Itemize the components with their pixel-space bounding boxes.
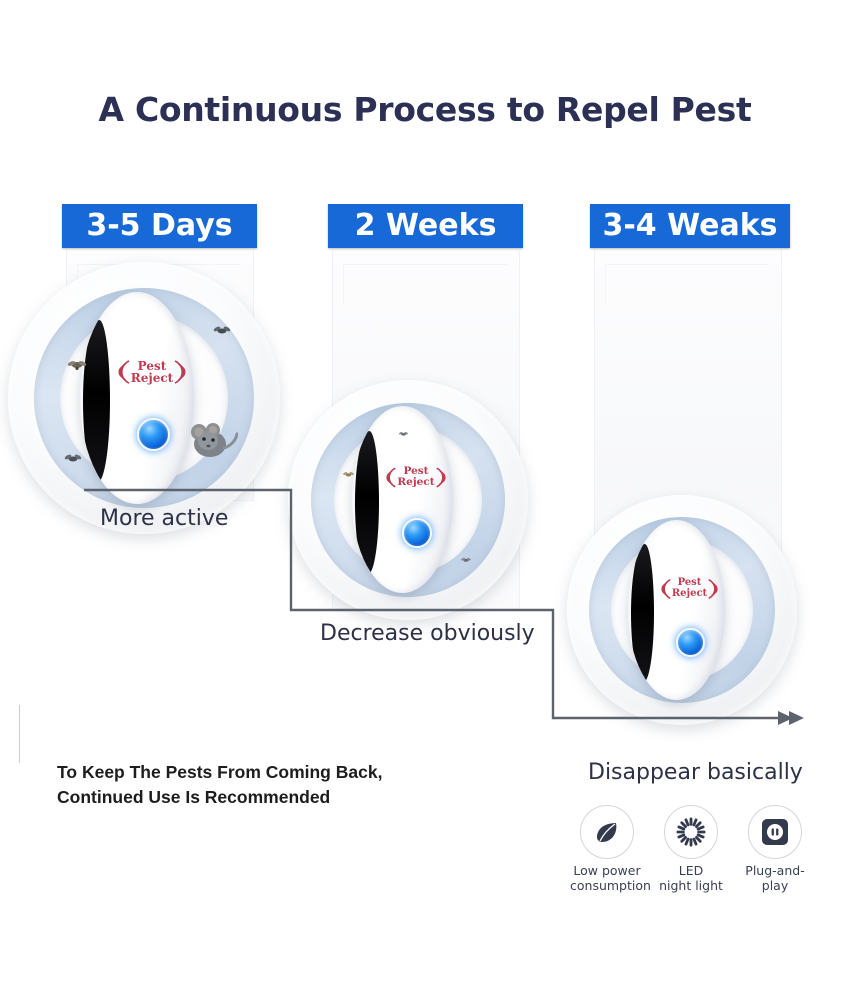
device-body: Pest Reject	[80, 292, 194, 504]
pest-fly	[342, 470, 355, 479]
device-logo-line2: Reject	[397, 477, 434, 488]
sound-wave-icon	[707, 577, 718, 601]
sound-wave-icon	[386, 465, 397, 490]
sound-wave-icon	[661, 577, 672, 601]
bottom-note-line-2: Continued Use Is Recommended	[57, 785, 382, 810]
feature-label: LED night light	[654, 864, 728, 894]
sound-wave-icon	[118, 358, 131, 386]
feature-icon-circle	[664, 805, 718, 859]
stage-1-caption: More active	[100, 506, 228, 531]
stage-3-badge: 3-4 Weaks	[590, 204, 790, 248]
stage-3-device: Pest Reject	[567, 495, 797, 725]
device-led-button	[402, 518, 432, 548]
feature-led-night-light: LED night light	[654, 805, 728, 894]
feature-plug-and-play: Plug-and-play	[738, 805, 812, 894]
pest-fly	[66, 358, 88, 371]
stage-1-badge: 3-5 Days	[62, 204, 257, 248]
device-logo-line2: Reject	[131, 372, 173, 384]
pest-fly	[398, 430, 409, 438]
device-logo: Pest Reject	[657, 573, 722, 604]
feature-label: Low power consumption	[570, 864, 644, 894]
device-logo: Pest Reject	[114, 354, 190, 390]
sunburst-icon	[676, 817, 706, 847]
bottom-note: To Keep The Pests From Coming Back, Cont…	[57, 760, 382, 811]
device-led-button	[676, 628, 705, 657]
stage-1-device: Pest Reject	[8, 262, 280, 534]
pest-fly	[460, 556, 472, 564]
device-logo: Pest Reject	[382, 461, 450, 493]
pest-mouse	[186, 416, 238, 464]
leaf-icon	[593, 818, 621, 846]
stage-2-caption: Decrease obviously	[320, 621, 535, 646]
device-teardrop	[83, 320, 110, 482]
device-led-button	[137, 418, 170, 451]
sound-wave-icon	[435, 465, 446, 490]
stage-3-caption: Disappear basically	[588, 760, 803, 785]
device-logo-line2: Reject	[672, 589, 707, 599]
device-logo-line1: Pest	[672, 578, 707, 588]
feature-icon-circle	[580, 805, 634, 859]
power-socket-icon	[760, 817, 790, 847]
pest-fly	[63, 452, 83, 465]
stage-2-device: Pest Reject	[288, 380, 528, 620]
feature-label: Plug-and-play	[738, 864, 812, 894]
bottom-note-line-1: To Keep The Pests From Coming Back,	[57, 760, 382, 785]
infographic-canvas: A Continuous Process to Repel Pest 3-5 D…	[0, 0, 850, 995]
device-teardrop	[631, 544, 654, 682]
page-title: A Continuous Process to Repel Pest	[0, 90, 850, 129]
device-body: Pest Reject	[628, 520, 725, 700]
feature-list: Low power consumption	[570, 805, 812, 894]
edge-artifact	[19, 705, 20, 763]
sound-wave-icon	[173, 358, 186, 386]
feature-low-power: Low power consumption	[570, 805, 644, 894]
pest-fly	[212, 324, 232, 337]
feature-icon-circle	[748, 805, 802, 859]
device-teardrop	[355, 431, 379, 574]
stage-2-badge: 2 Weeks	[328, 204, 523, 248]
